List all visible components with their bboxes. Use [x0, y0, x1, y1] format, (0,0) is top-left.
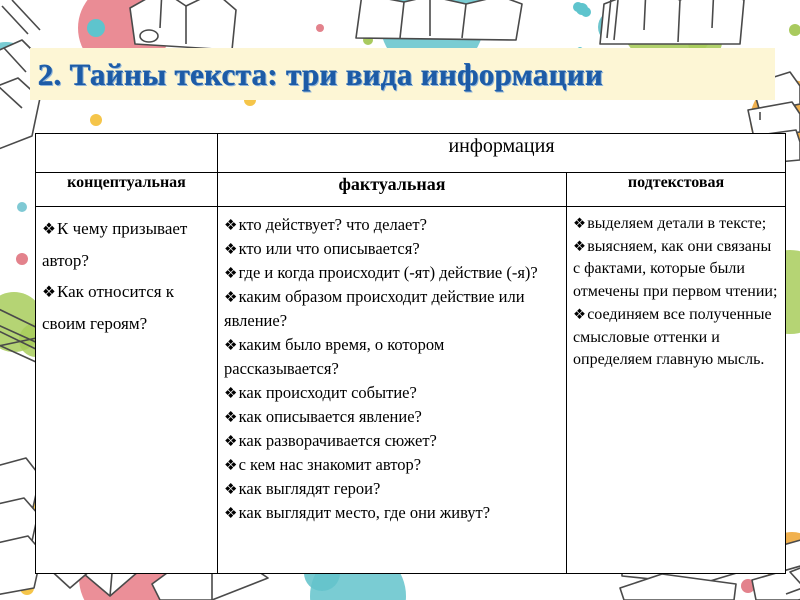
subtextual-list: выделяем детали в тексте; выясняем, как … [573, 213, 780, 372]
decor-open-book-top [356, 0, 522, 40]
decor-dot-8 [581, 9, 582, 10]
decor-lines-topleft [2, 0, 40, 34]
decor-dot-20 [197, 576, 211, 590]
column-header-factual: фактуальная [218, 173, 567, 207]
decor-dot-16 [16, 253, 28, 265]
list-item: с кем нас знакомит автор? [224, 453, 561, 477]
list-item: кто действует? что делает? [224, 213, 561, 237]
list-item: Как относится к своим героям? [42, 276, 212, 339]
list-item: каким было время, о котором рассказывает… [224, 333, 561, 381]
list-item: как происходит событие? [224, 381, 561, 405]
decor-circle-yellow-bottomleft [0, 476, 38, 544]
page-title: 2. Тайны текста: три вида информации [38, 50, 778, 100]
list-item: как описывается явление? [224, 405, 561, 429]
table-row-span-header: информация [36, 134, 786, 173]
decor-dot-4 [316, 24, 324, 32]
list-item: кто или что описывается? [224, 237, 561, 261]
decor-dot-5 [363, 35, 373, 45]
list-item: К чему призывает автор? [42, 213, 212, 276]
decor-dot-12 [90, 114, 102, 126]
decor-circle-pink-topleft2 [190, 14, 226, 50]
decor-open-book-topleft [130, 0, 236, 50]
conceptual-list: К чему призывает автор? Как относится к … [42, 213, 212, 340]
list-item: как выглядит место, где они живут? [224, 501, 561, 525]
decor-dot-15 [17, 202, 27, 212]
table-row-body: К чему призывает автор? Как относится к … [36, 207, 786, 574]
list-item: выделяем детали в тексте; [573, 213, 780, 236]
decor-open-book-topright [600, 0, 744, 44]
decor-dot-25 [789, 24, 800, 36]
decor-dot-3 [213, 13, 223, 23]
decor-dot-26 [654, 590, 666, 600]
list-item: как разворачивается сюжет? [224, 429, 561, 453]
list-item: где и когда происходит (-ят) действие (-… [224, 261, 561, 285]
factual-list: кто действует? что делает? кто или что о… [224, 213, 561, 525]
cell-subtextual: выделяем детали в тексте; выясняем, как … [567, 207, 786, 574]
cell-factual: кто действует? что делает? кто или что о… [218, 207, 567, 574]
list-item: каким образом происходит действие или яв… [224, 285, 561, 333]
information-types-table: информация концептуальная фактуальная по… [35, 133, 786, 574]
decor-dot-22 [20, 581, 34, 595]
column-header-conceptual: концептуальная [36, 173, 218, 207]
list-item: как выглядят герои? [224, 477, 561, 501]
decor-dot-7 [576, 3, 588, 15]
header-blank-cell [36, 134, 218, 173]
table-row-column-headers: концептуальная фактуальная подтекстовая [36, 173, 786, 207]
decor-circle-teal-topright [598, 10, 632, 44]
cell-conceptual: К чему призывает автор? Как относится к … [36, 207, 218, 574]
list-item: выясняем, как они связаны с фактами, кот… [573, 236, 780, 304]
decor-dot-2 [157, 3, 167, 13]
decor-dot-9 [581, 7, 591, 17]
column-header-subtextual: подтекстовая [567, 173, 786, 207]
decor-dot-21 [741, 579, 755, 593]
span-header-information: информация [218, 134, 786, 173]
decor-dot-10 [573, 2, 583, 12]
decor-book-rightlower [786, 558, 800, 596]
decor-dot-1 [87, 19, 105, 37]
list-item: соединяем все полученные смысловые оттен… [573, 304, 780, 372]
